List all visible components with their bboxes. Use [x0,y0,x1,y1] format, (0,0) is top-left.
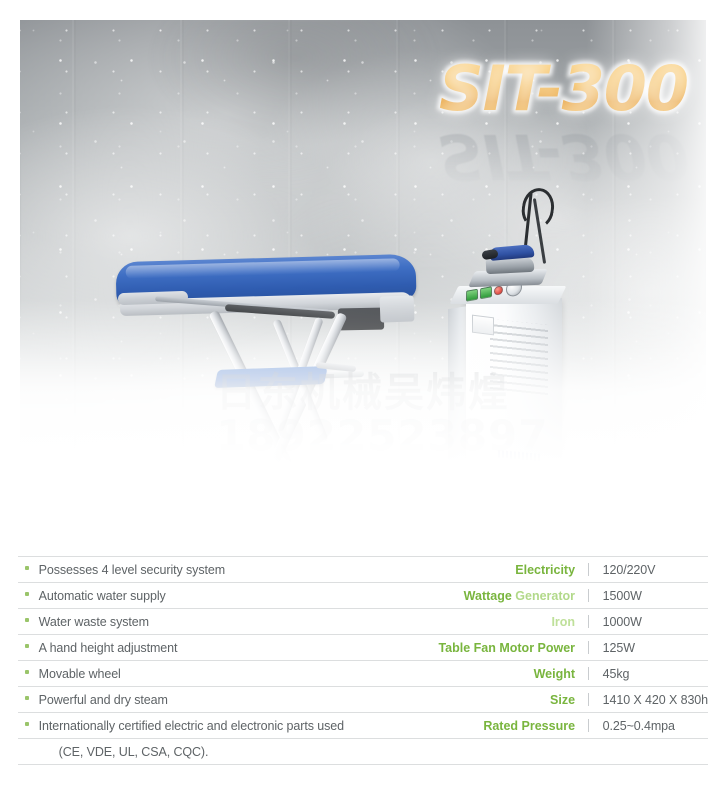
spec-value: 1410 X 420 X 830h [595,687,708,713]
table-spacer-row [18,531,708,557]
column-divider [583,583,595,609]
divider-tick [588,641,589,654]
bullet-icon [25,566,29,570]
spec-value [595,739,708,765]
feature-bullet-cell [18,739,37,765]
spec-value: 0.25~0.4mpa [595,713,708,739]
specification-table: Possesses 4 level security system Electr… [18,531,708,765]
alarm-indicator-red [494,285,503,296]
bullet-icon [25,722,29,726]
divider-tick [588,693,589,706]
feature-text: Movable wheel [37,661,412,687]
divider-tick [588,589,589,602]
table-row: Possesses 4 level security system Electr… [18,557,708,583]
feature-bullet-cell [18,661,37,687]
specification-table-body: Possesses 4 level security system Electr… [18,531,708,765]
column-divider [583,661,595,687]
column-divider [583,609,595,635]
spec-label-main: Rated Pressure [483,719,575,733]
spec-label-sub: Generator [515,589,575,603]
product-title: SIT-300 [439,58,688,120]
table-row: Movable wheel Weight 45kg [18,661,708,687]
feature-text: (CE, VDE, UL, CSA, CQC). [37,739,412,765]
spec-label: Table Fan Motor Power [411,635,583,661]
spec-label: Size [411,687,583,713]
column-divider [583,687,595,713]
feature-bullet-cell [18,583,37,609]
spec-label-main: Weight [534,667,575,681]
column-divider [583,713,595,739]
column-divider [583,635,595,661]
feature-text: A hand height adjustment [37,635,412,661]
spec-label: Weight [411,661,583,687]
divider-tick [588,719,589,732]
spec-label-main: Size [550,693,575,707]
spec-value: 45kg [595,661,708,687]
feature-text: Internationally certified electric and e… [37,713,412,739]
feature-bullet-cell [18,609,37,635]
feature-bullet-cell [18,557,37,583]
spec-label: Rated Pressure [411,713,583,739]
bullet-icon [25,644,29,648]
divider-tick [588,667,589,680]
column-divider [583,739,595,765]
spec-label [411,739,583,765]
spec-value: 120/220V [595,557,708,583]
divider-tick [588,563,589,576]
spec-label-sub: Iron [551,615,575,629]
table-row: Automatic water supply Wattage Generator… [18,583,708,609]
spec-value: 1500W [595,583,708,609]
table-spacer-cell [18,531,708,557]
steam-button-green [480,286,492,299]
spec-label-main: Table Fan Motor Power [438,641,575,655]
spec-label: Iron [411,609,583,635]
divider-tick [588,615,589,628]
spec-label-main: Electricity [515,563,575,577]
table-row: (CE, VDE, UL, CSA, CQC). [18,739,708,765]
feature-text: Automatic water supply [37,583,412,609]
product-banner: SIT-300 SIT-300 SIT-300 [20,20,706,490]
spec-value: 125W [595,635,708,661]
feature-bullet-cell [18,687,37,713]
table-row: A hand height adjustment Table Fan Motor… [18,635,708,661]
bullet-icon [25,670,29,674]
table-row: Internationally certified electric and e… [18,713,708,739]
feature-bullet-cell [18,713,37,739]
spec-label: Electricity [411,557,583,583]
banner-bottom-fade [20,300,706,490]
spec-label: Wattage Generator [411,583,583,609]
feature-text: Water waste system [37,609,412,635]
table-row: Powerful and dry steam Size 1410 X 420 X… [18,687,708,713]
feature-text: Possesses 4 level security system [37,557,412,583]
bullet-icon [25,592,29,596]
bullet-icon [25,618,29,622]
feature-bullet-cell [18,635,37,661]
product-title-group: SIT-300 SIT-300 [439,58,688,120]
bullet-icon [25,696,29,700]
feature-text: Powerful and dry steam [37,687,412,713]
spec-label-main: Wattage [464,589,512,603]
column-divider [583,557,595,583]
table-row: Water waste system Iron 1000W [18,609,708,635]
spec-value: 1000W [595,609,708,635]
